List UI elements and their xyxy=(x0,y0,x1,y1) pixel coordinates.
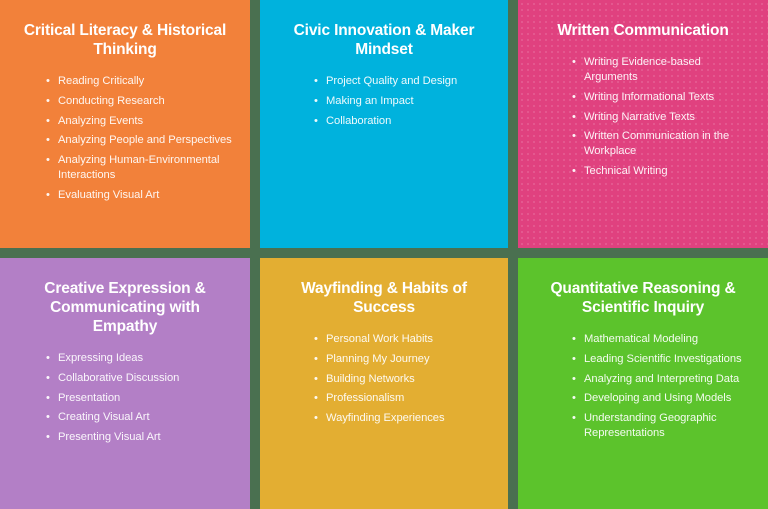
panel-list-item-label: Conducting Research xyxy=(58,95,165,107)
panel-list-item-label: Collaboration xyxy=(326,115,391,127)
panel-list-item-label: Technical Writing xyxy=(584,165,668,177)
panel-list-item-label: Writing Informational Texts xyxy=(584,91,714,103)
bullet-icon: • xyxy=(572,332,576,347)
panel-list-item[interactable]: •Reading Critically xyxy=(46,74,236,89)
bullet-icon: • xyxy=(572,129,576,144)
panel-list-item[interactable]: •Professionalism xyxy=(314,391,494,406)
bullet-icon: • xyxy=(314,94,318,109)
panel-list-item[interactable]: •Collaborative Discussion xyxy=(46,371,236,386)
panel-list-item[interactable]: •Written Communication in the Workplace xyxy=(572,129,754,159)
panel-civic-innovation-maker-mindset[interactable]: Civic Innovation & Maker Mindset •Projec… xyxy=(260,0,508,248)
panel-list-item[interactable]: •Analyzing Human-Environmental Interacti… xyxy=(46,153,236,183)
bullet-icon: • xyxy=(572,55,576,70)
bullet-icon: • xyxy=(572,164,576,179)
panel-list-item-label: Understanding Geographic Representations xyxy=(584,412,717,439)
panel-quantitative-reasoning-scientific-inquiry[interactable]: Quantitative Reasoning & Scientific Inqu… xyxy=(518,258,768,509)
bullet-icon: • xyxy=(46,74,50,89)
bullet-icon: • xyxy=(314,332,318,347)
bullet-icon: • xyxy=(46,188,50,203)
gutter-vertical xyxy=(250,258,260,509)
panel-list-item[interactable]: •Conducting Research xyxy=(46,94,236,109)
panel-list-item[interactable]: •Creating Visual Art xyxy=(46,410,236,425)
bullet-icon: • xyxy=(572,110,576,125)
panel-list-item[interactable]: •Presentation xyxy=(46,391,236,406)
gutter-cross xyxy=(508,248,518,258)
panel-list-item-label: Writing Evidence-based Arguments xyxy=(584,56,701,83)
panel-item-list: •Project Quality and Design•Making an Im… xyxy=(314,74,494,134)
panel-list-item[interactable]: •Evaluating Visual Art xyxy=(46,188,236,203)
competency-grid: Critical Literacy & Historical Thinking … xyxy=(0,0,768,509)
bullet-icon: • xyxy=(314,74,318,89)
panel-list-item[interactable]: •Developing and Using Models xyxy=(572,391,754,406)
bullet-icon: • xyxy=(572,90,576,105)
panel-list-item[interactable]: •Personal Work Habits xyxy=(314,332,494,347)
bullet-icon: • xyxy=(572,411,576,426)
bullet-icon: • xyxy=(46,371,50,386)
panel-list-item-label: Evaluating Visual Art xyxy=(58,189,159,201)
panel-list-item[interactable]: •Wayfinding Experiences xyxy=(314,411,494,426)
panel-list-item[interactable]: •Understanding Geographic Representation… xyxy=(572,411,754,441)
gutter-horizontal xyxy=(260,248,508,258)
gutter-cross xyxy=(250,248,260,258)
panel-item-list: •Mathematical Modeling•Leading Scientifi… xyxy=(572,332,754,446)
panel-list-item-label: Project Quality and Design xyxy=(326,75,457,87)
panel-list-item-label: Analyzing Human-Environmental Interactio… xyxy=(58,154,219,181)
panel-list-item-label: Building Networks xyxy=(326,373,415,385)
panel-list-item[interactable]: •Analyzing People and Perspectives xyxy=(46,133,236,148)
bullet-icon: • xyxy=(572,391,576,406)
panel-item-list: •Personal Work Habits•Planning My Journe… xyxy=(314,332,494,431)
panel-title: Quantitative Reasoning & Scientific Inqu… xyxy=(534,280,752,318)
panel-list-item[interactable]: •Analyzing and Interpreting Data xyxy=(572,372,754,387)
gutter-vertical xyxy=(508,258,518,509)
panel-title: Critical Literacy & Historical Thinking xyxy=(16,22,234,60)
bullet-icon: • xyxy=(314,372,318,387)
bullet-icon: • xyxy=(314,391,318,406)
panel-wayfinding-habits-of-success[interactable]: Wayfinding & Habits of Success •Personal… xyxy=(260,258,508,509)
bullet-icon: • xyxy=(46,133,50,148)
panel-item-list: •Writing Evidence-based Arguments•Writin… xyxy=(572,55,754,184)
panel-list-item-label: Presentation xyxy=(58,392,120,404)
panel-list-item-label: Collaborative Discussion xyxy=(58,372,179,384)
panel-list-item[interactable]: •Planning My Journey xyxy=(314,352,494,367)
panel-list-item-label: Developing and Using Models xyxy=(584,392,731,404)
panel-list-item-label: Written Communication in the Workplace xyxy=(584,130,729,157)
panel-list-item[interactable]: •Technical Writing xyxy=(572,164,754,179)
panel-list-item-label: Wayfinding Experiences xyxy=(326,412,445,424)
bullet-icon: • xyxy=(46,114,50,129)
bullet-icon: • xyxy=(46,391,50,406)
panel-list-item[interactable]: •Writing Informational Texts xyxy=(572,90,754,105)
panel-list-item[interactable]: •Writing Narrative Texts xyxy=(572,110,754,125)
panel-list-item[interactable]: •Writing Evidence-based Arguments xyxy=(572,55,754,85)
bullet-icon: • xyxy=(46,410,50,425)
panel-title: Wayfinding & Habits of Success xyxy=(276,280,492,318)
panel-list-item[interactable]: •Mathematical Modeling xyxy=(572,332,754,347)
bullet-icon: • xyxy=(314,411,318,426)
panel-title: Creative Expression & Communicating with… xyxy=(16,280,234,337)
panel-written-communication[interactable]: Written Communication •Writing Evidence-… xyxy=(518,0,768,248)
panel-list-item-label: Presenting Visual Art xyxy=(58,431,161,443)
panel-list-item[interactable]: •Building Networks xyxy=(314,372,494,387)
bullet-icon: • xyxy=(46,153,50,168)
panel-list-item[interactable]: •Presenting Visual Art xyxy=(46,430,236,445)
bullet-icon: • xyxy=(572,372,576,387)
panel-item-list: •Reading Critically•Conducting Research•… xyxy=(46,74,236,208)
panel-item-list: •Expressing Ideas•Collaborative Discussi… xyxy=(46,351,236,450)
bullet-icon: • xyxy=(46,351,50,366)
panel-list-item-label: Writing Narrative Texts xyxy=(584,111,695,123)
panel-list-item-label: Making an Impact xyxy=(326,95,414,107)
panel-list-item[interactable]: •Leading Scientific Investigations xyxy=(572,352,754,367)
gutter-horizontal xyxy=(518,248,768,258)
panel-list-item-label: Professionalism xyxy=(326,392,404,404)
panel-list-item[interactable]: •Analyzing Events xyxy=(46,114,236,129)
bullet-icon: • xyxy=(314,352,318,367)
panel-list-item[interactable]: •Collaboration xyxy=(314,114,494,129)
panel-list-item-label: Planning My Journey xyxy=(326,353,430,365)
panel-list-item-label: Reading Critically xyxy=(58,75,144,87)
bullet-icon: • xyxy=(314,114,318,129)
panel-list-item-label: Analyzing People and Perspectives xyxy=(58,134,232,146)
bullet-icon: • xyxy=(46,94,50,109)
panel-list-item[interactable]: •Making an Impact xyxy=(314,94,494,109)
panel-title: Civic Innovation & Maker Mindset xyxy=(276,22,492,60)
panel-list-item-label: Leading Scientific Investigations xyxy=(584,353,742,365)
panel-list-item-label: Analyzing and Interpreting Data xyxy=(584,373,739,385)
panel-list-item-label: Creating Visual Art xyxy=(58,411,150,423)
panel-list-item-label: Mathematical Modeling xyxy=(584,333,698,345)
bullet-icon: • xyxy=(572,352,576,367)
panel-list-item[interactable]: •Expressing Ideas xyxy=(46,351,236,366)
gutter-horizontal xyxy=(0,248,250,258)
gutter-vertical xyxy=(250,0,260,248)
panel-list-item-label: Expressing Ideas xyxy=(58,352,143,364)
panel-list-item-label: Analyzing Events xyxy=(58,115,143,127)
panel-creative-expression-communicating-with-empathy[interactable]: Creative Expression & Communicating with… xyxy=(0,258,250,509)
panel-title: Written Communication xyxy=(534,22,752,41)
gutter-vertical xyxy=(508,0,518,248)
panel-critical-literacy-historical-thinking[interactable]: Critical Literacy & Historical Thinking … xyxy=(0,0,250,248)
panel-list-item-label: Personal Work Habits xyxy=(326,333,433,345)
panel-list-item[interactable]: •Project Quality and Design xyxy=(314,74,494,89)
bullet-icon: • xyxy=(46,430,50,445)
